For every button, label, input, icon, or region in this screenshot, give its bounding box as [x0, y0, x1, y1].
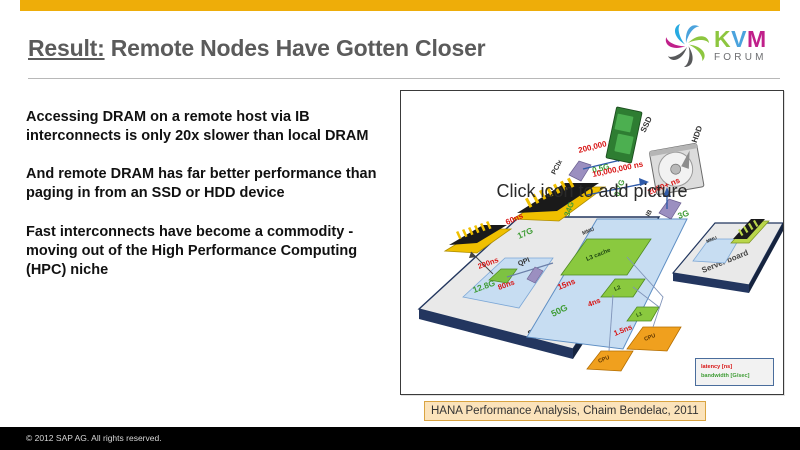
page-title-rest: Remote Nodes Have Gotten Closer — [105, 35, 486, 61]
body-text-block: Accessing DRAM on a remote host via IB i… — [26, 108, 386, 280]
svg-text:PCIx: PCIx — [551, 159, 565, 176]
picture-placeholder[interactable]: .bd { font-family: "Liberation Sans", sa… — [400, 90, 784, 395]
kvm-forum-logo: KVM FORUM — [664, 20, 786, 70]
logo-letter-v: V — [731, 26, 747, 52]
hana-latency-diagram: .bd { font-family: "Liberation Sans", sa… — [401, 91, 783, 394]
body-paragraph-1: Accessing DRAM on a remote host via IB i… — [26, 108, 386, 146]
footer-bar: © 2012 SAP AG. All rights reserved. — [0, 427, 800, 450]
top-accent-bar — [20, 0, 780, 11]
logo-letter-k: K — [714, 26, 731, 52]
logo-subtitle: FORUM — [714, 53, 767, 63]
picture-caption: HANA Performance Analysis, Chaim Bendela… — [424, 401, 706, 421]
body-paragraph-2: And remote DRAM has far better performan… — [26, 165, 386, 203]
legend-latency: latency [ns] — [701, 363, 769, 372]
title-divider — [28, 78, 780, 79]
svg-text:10,000,000 ns: 10,000,000 ns — [592, 159, 645, 179]
footer-copyright: © 2012 SAP AG. All rights reserved. — [26, 433, 162, 443]
page-title: Result: Remote Nodes Have Gotten Closer — [28, 28, 668, 68]
picture-content: .bd { font-family: "Liberation Sans", sa… — [401, 91, 783, 394]
logo-letter-m: M — [747, 26, 767, 52]
slide: Result: Remote Nodes Have Gotten Closer — [0, 0, 800, 450]
body-paragraph-3: Fast interconnects have become a commodi… — [26, 223, 386, 280]
svg-text:HDD: HDD — [690, 124, 704, 144]
svg-text:3G: 3G — [676, 207, 690, 220]
pinwheel-icon — [664, 22, 710, 68]
page-title-lead: Result: — [28, 35, 105, 61]
diagram-legend: latency [ns] bandwidth [G/sec] — [695, 358, 774, 386]
legend-bandwidth: bandwidth [G/sec] — [701, 372, 769, 381]
